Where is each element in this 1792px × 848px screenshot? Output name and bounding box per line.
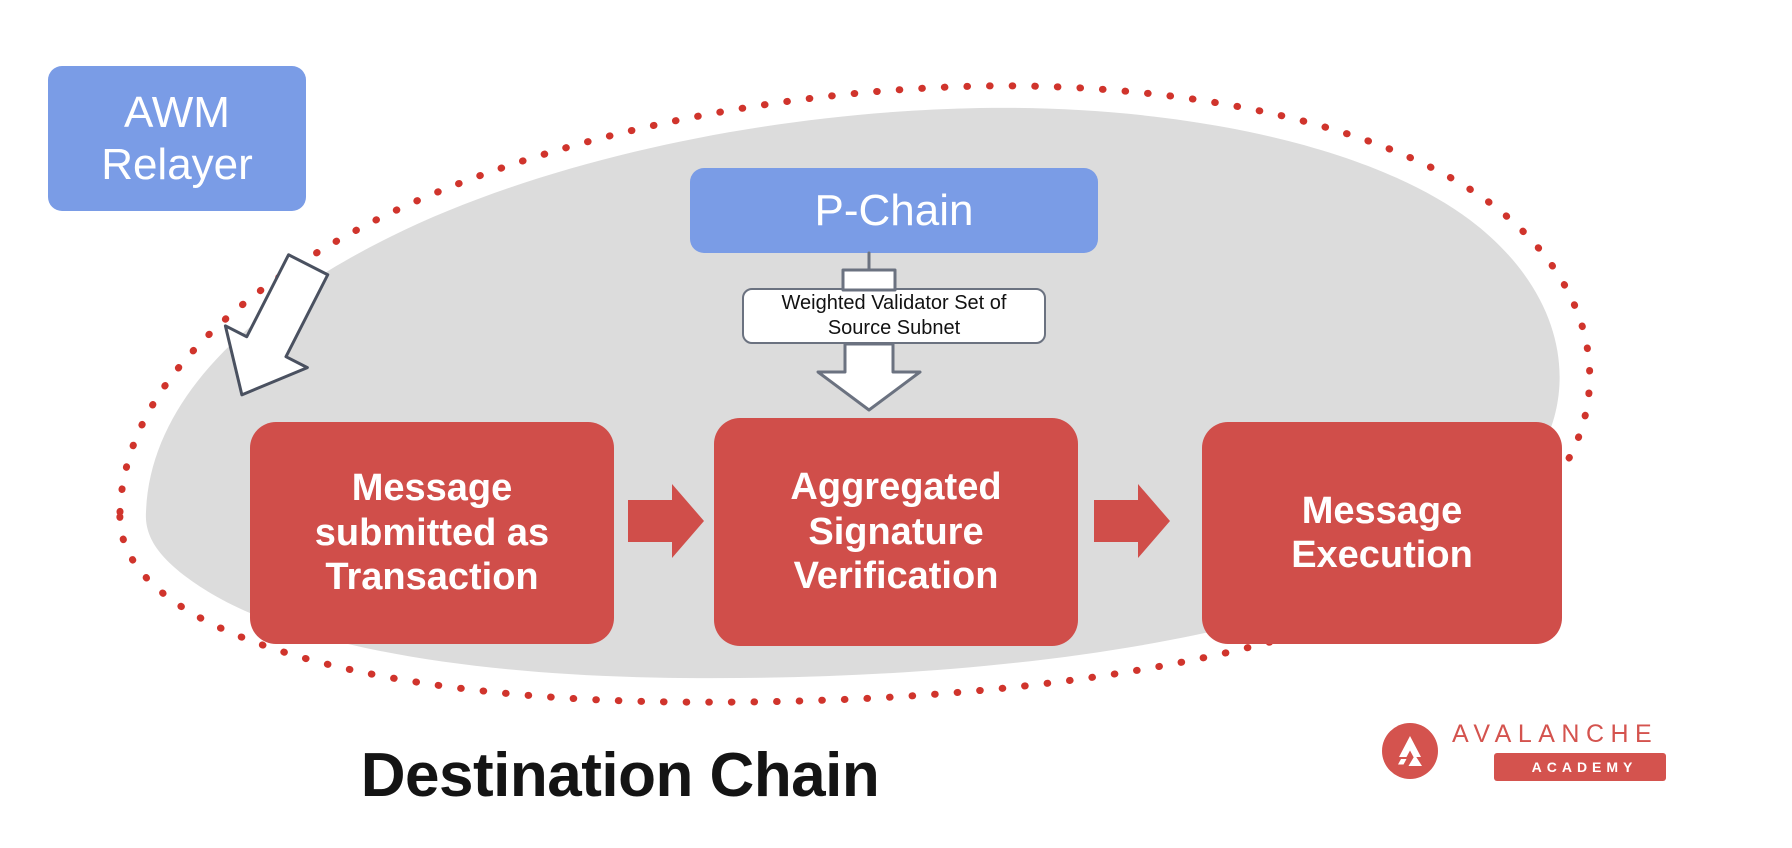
node-awm-relayer[interactable]: AWM Relayer: [48, 66, 306, 211]
validator-set-label-line2: Source Subnet: [782, 316, 1007, 341]
validator-set-label-line1: Weighted Validator Set of: [782, 291, 1007, 316]
brand-wordmark: AVALANCHE: [1452, 722, 1666, 747]
awm-relayer-label-line1: AWM: [101, 87, 253, 139]
step2-label-line2: Signature: [790, 510, 1001, 554]
node-p-chain[interactable]: P-Chain: [690, 168, 1098, 253]
avalanche-academy-logo: AVALANCHE ACADEMY: [1382, 715, 1654, 787]
avalanche-logo-icon: [1382, 723, 1438, 779]
step1-label-line2: submitted as: [315, 511, 549, 555]
step3-label-line2: Execution: [1291, 533, 1473, 577]
p-chain-label: P-Chain: [815, 185, 974, 237]
step1-label-line3: Transaction: [315, 555, 549, 599]
brand-text-column: AVALANCHE ACADEMY: [1452, 722, 1666, 781]
node-aggregated-signature-verification[interactable]: Aggregated Signature Verification: [714, 418, 1078, 646]
step2-label-line1: Aggregated: [790, 465, 1001, 509]
avalanche-mountain-icon: [1382, 723, 1438, 779]
awm-relayer-label-line2: Relayer: [101, 139, 253, 191]
node-weighted-validator-set[interactable]: Weighted Validator Set of Source Subnet: [742, 288, 1046, 344]
brand-sub-label: ACADEMY: [1494, 753, 1666, 781]
diagram-canvas: AWM Relayer P-Chain Weighted Validator S…: [0, 0, 1792, 848]
step2-label-line3: Verification: [790, 554, 1001, 598]
node-message-execution[interactable]: Message Execution: [1202, 422, 1562, 644]
step3-label-line1: Message: [1291, 489, 1473, 533]
step1-label-line1: Message: [315, 466, 549, 510]
node-message-submitted-as-transaction[interactable]: Message submitted as Transaction: [250, 422, 614, 644]
page-title: Destination Chain: [0, 740, 1240, 811]
